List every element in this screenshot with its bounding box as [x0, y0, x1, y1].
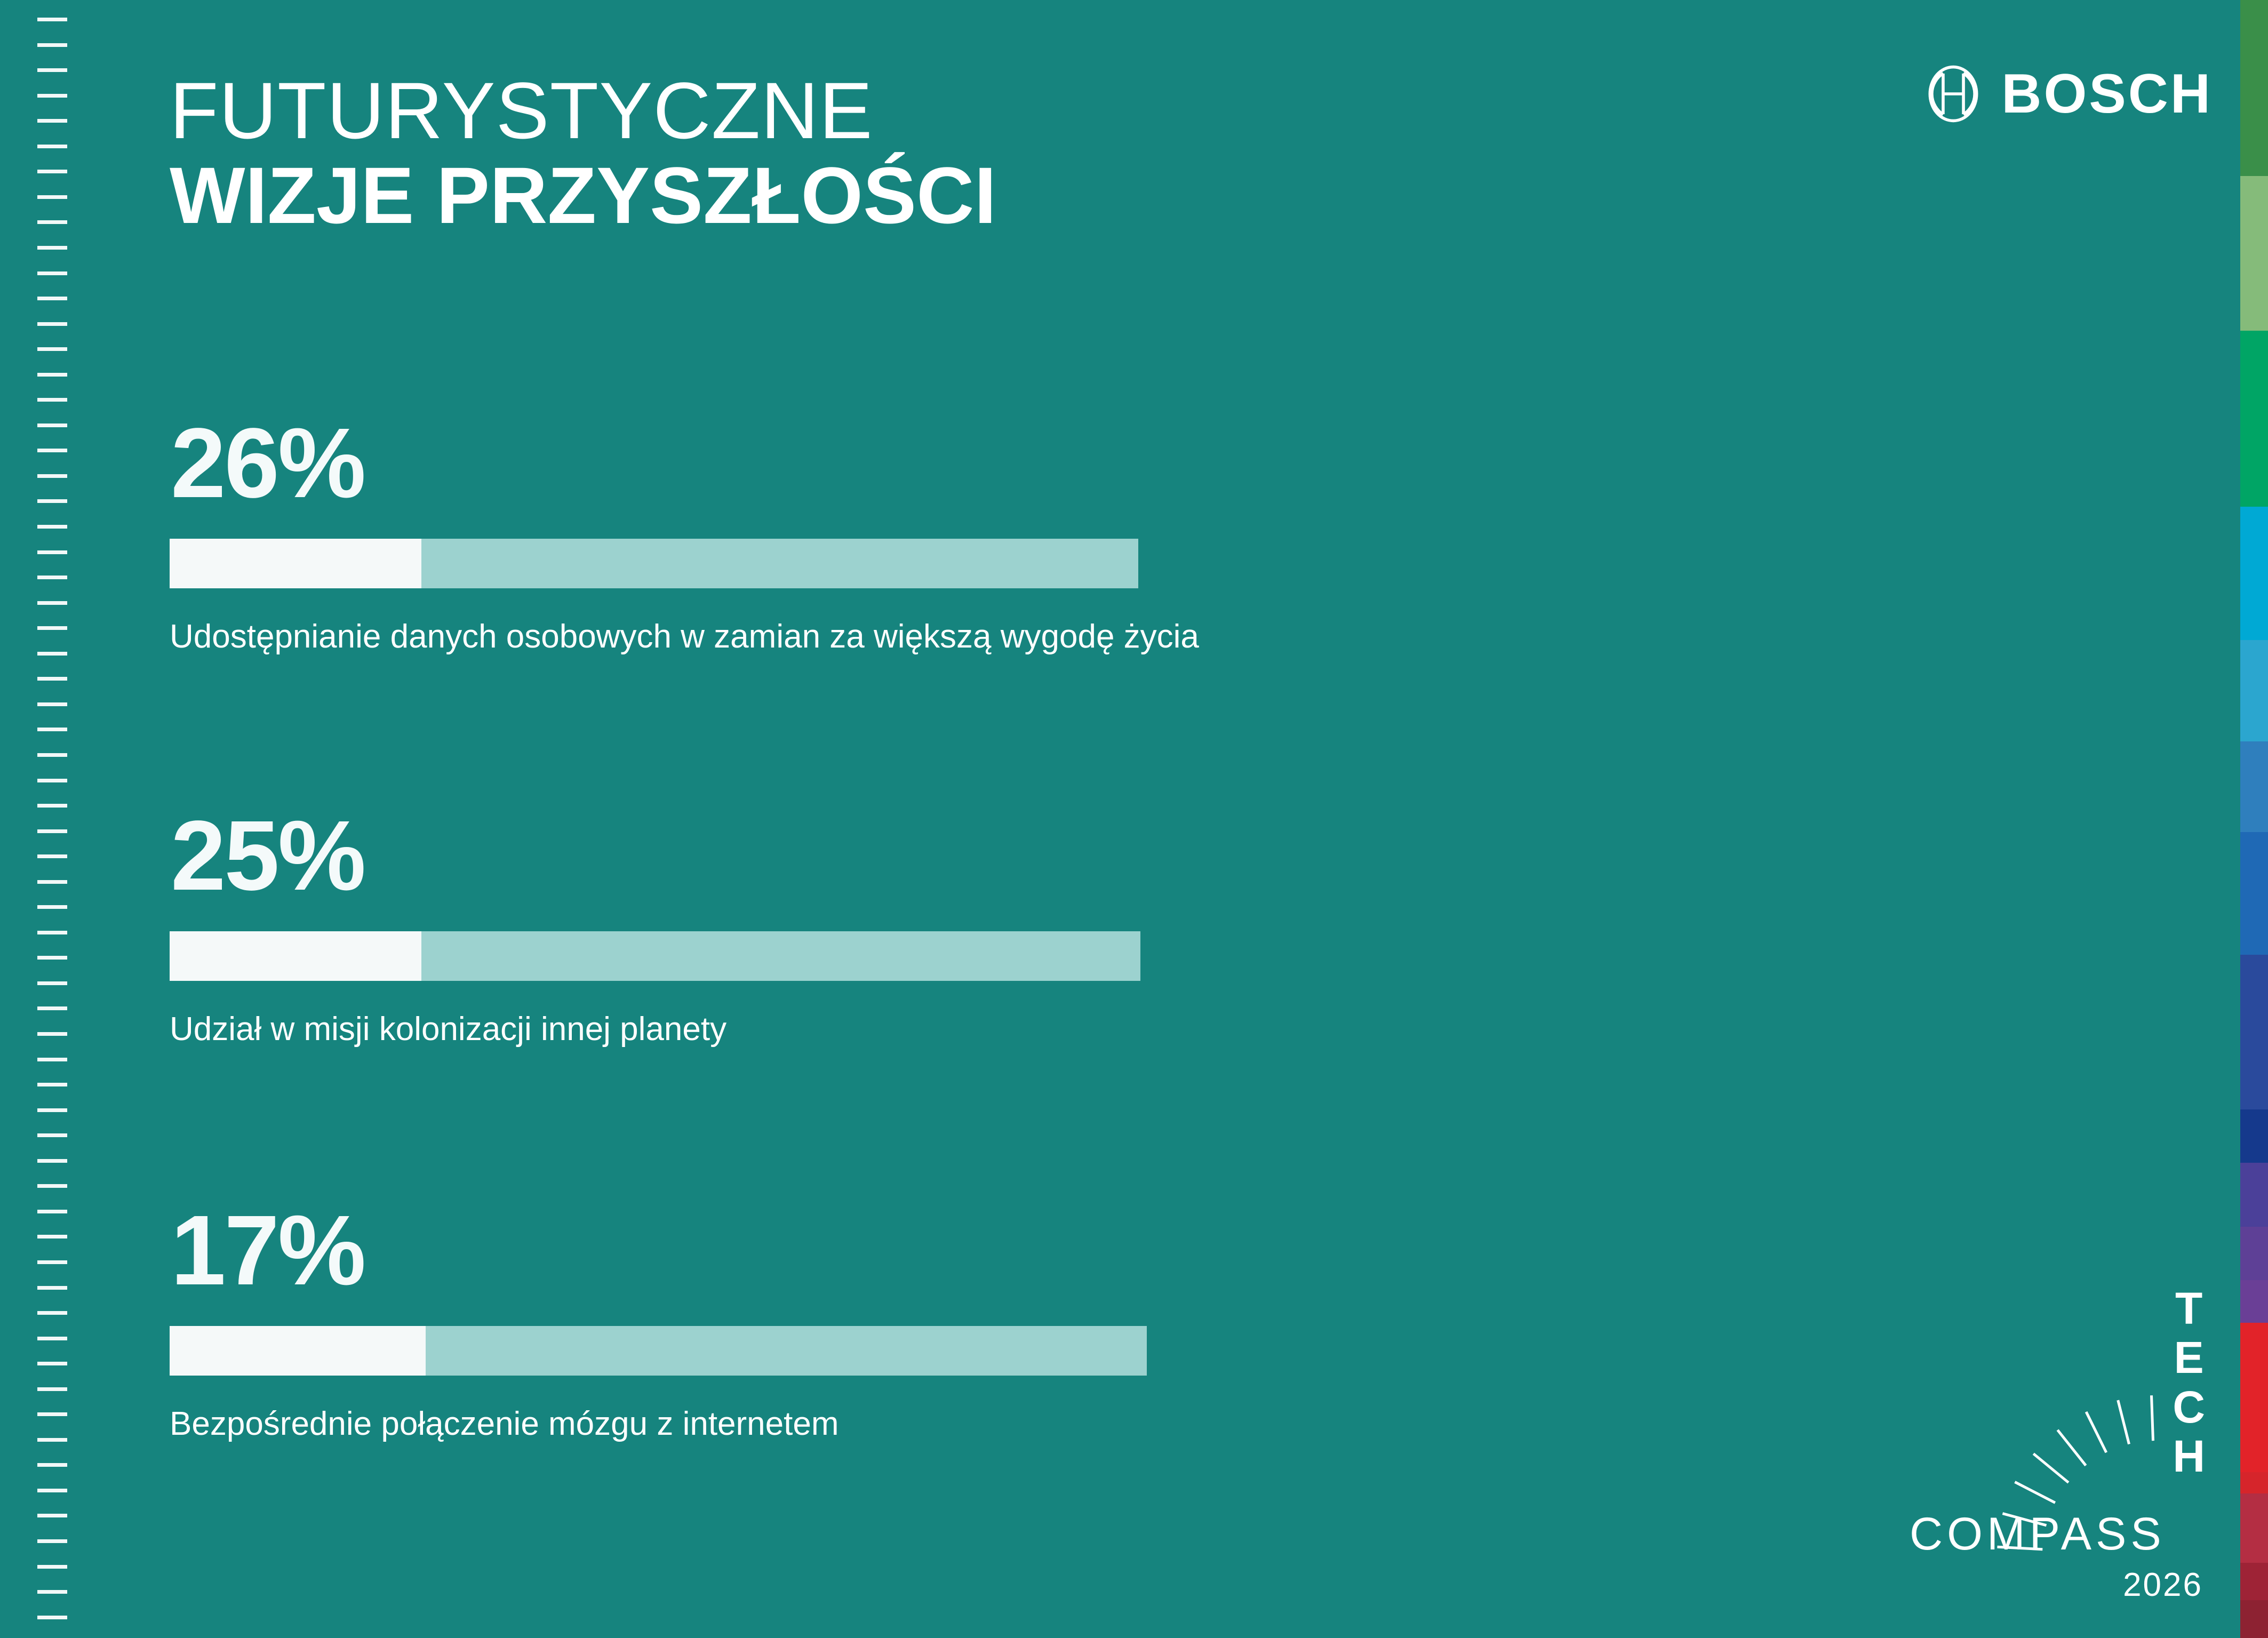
- ruler-ticks-icon: [0, 0, 75, 1638]
- ruler-tick: [37, 1235, 67, 1239]
- tech-compass-tech-word: TECH: [2173, 1284, 2205, 1481]
- page-title-line-2: WIZJE PRZYSZŁOŚCI: [170, 153, 996, 238]
- ruler-tick: [37, 220, 67, 224]
- compass-ray: [2086, 1412, 2106, 1452]
- page-title-line-1: FUTURYSTYCZNE: [170, 68, 996, 153]
- compass-ray: [2033, 1454, 2069, 1483]
- ruler-tick: [37, 398, 67, 402]
- stripe-band: [2240, 0, 2268, 176]
- ruler-tick: [37, 499, 67, 503]
- ruler-tick: [37, 271, 67, 275]
- stripe-band: [2240, 331, 2268, 507]
- ruler-tick: [37, 1260, 67, 1264]
- ruler-tick: [37, 905, 67, 909]
- ruler-tick: [37, 246, 67, 250]
- ruler-tick: [37, 1438, 67, 1442]
- tech-compass-logo: TECH COMPASS 2026: [1906, 1265, 2205, 1606]
- colour-spectrum-stripe: [2240, 0, 2268, 1638]
- bosch-logo: BOSCH: [1923, 64, 2213, 124]
- ruler-tick: [37, 1006, 67, 1010]
- ruler-tick: [37, 43, 67, 47]
- ruler-tick: [37, 195, 67, 199]
- ruler-tick: [37, 322, 67, 326]
- stat-value: 26%: [171, 414, 1199, 513]
- stat-block: 25% Udział w misji kolonizacji innej pla…: [170, 806, 1140, 1049]
- ruler-tick: [37, 1210, 67, 1213]
- stripe-band: [2240, 640, 2268, 741]
- ruler-tick: [37, 601, 67, 605]
- ruler-tick: [37, 1463, 67, 1467]
- stripe-band: [2240, 507, 2268, 640]
- ruler-tick: [37, 170, 67, 173]
- ruler-tick: [37, 474, 67, 478]
- ruler-tick: [37, 1133, 67, 1137]
- ruler-tick: [37, 1108, 67, 1112]
- ruler-tick: [37, 1083, 67, 1086]
- ruler-tick: [37, 119, 67, 123]
- page-title: FUTURYSTYCZNE WIZJE PRZYSZŁOŚCI: [170, 68, 996, 238]
- infographic-poster: BOSCH FUTURYSTYCZNE WIZJE PRZYSZŁOŚCI 26…: [0, 0, 2268, 1638]
- compass-ray: [2118, 1400, 2129, 1444]
- ruler-tick: [37, 1311, 67, 1315]
- stat-bar-fill: [170, 539, 421, 588]
- stripe-band: [2240, 176, 2268, 331]
- stat-label: Udostępnianie danych osobowych w zamian …: [170, 617, 1199, 657]
- stripe-band: [2240, 955, 2268, 1109]
- ruler-tick: [37, 1565, 67, 1569]
- bosch-armature-icon: [1923, 64, 1983, 124]
- tech-compass-letter: C: [2173, 1383, 2205, 1432]
- ruler-tick: [37, 94, 67, 98]
- ruler-tick: [37, 347, 67, 351]
- ruler-tick: [37, 1058, 67, 1061]
- stripe-band: [2240, 832, 2268, 955]
- ruler-tick: [37, 626, 67, 630]
- ruler-tick: [37, 1337, 67, 1340]
- ruler-tick: [37, 1539, 67, 1543]
- ruler-tick: [37, 1184, 67, 1188]
- stat-bar-fill: [170, 1326, 426, 1376]
- stripe-band: [2240, 1280, 2268, 1323]
- tech-compass-year: 2026: [2123, 1569, 2203, 1602]
- stat-bar: [170, 539, 1138, 588]
- ruler-tick: [37, 550, 67, 554]
- ruler-tick: [37, 677, 67, 681]
- stat-block: 26% Udostępnianie danych osobowych w zam…: [170, 414, 1199, 657]
- stat-label: Udział w misji kolonizacji innej planety: [170, 1010, 1140, 1049]
- ruler-tick: [37, 854, 67, 858]
- ruler-tick: [37, 424, 67, 427]
- ruler-tick: [37, 1286, 67, 1290]
- ruler-tick: [37, 804, 67, 808]
- compass-ray: [2058, 1430, 2086, 1466]
- ruler-tick: [37, 702, 67, 706]
- stat-bar: [170, 931, 1140, 981]
- ruler-tick: [37, 779, 67, 782]
- tech-compass-compass-word: COMPASS: [1910, 1511, 2166, 1557]
- ruler-tick: [37, 1032, 67, 1036]
- ruler-tick: [37, 1412, 67, 1416]
- ruler-tick: [37, 956, 67, 960]
- ruler-tick: [37, 931, 67, 934]
- ruler-tick: [37, 880, 67, 884]
- stripe-band: [2240, 1163, 2268, 1227]
- tech-compass-letter: H: [2173, 1432, 2205, 1481]
- ruler-tick: [37, 576, 67, 579]
- ruler-tick: [37, 1489, 67, 1492]
- stat-bar: [170, 1326, 1147, 1376]
- ruler-tick: [37, 728, 67, 731]
- stripe-band: [2240, 741, 2268, 832]
- ruler-tick: [37, 753, 67, 757]
- ruler-tick: [37, 1514, 67, 1517]
- ruler-tick: [37, 1159, 67, 1163]
- stat-value: 25%: [171, 806, 1140, 906]
- tech-compass-letter: T: [2173, 1284, 2205, 1333]
- ruler-tick: [37, 981, 67, 985]
- stat-value: 17%: [171, 1201, 1147, 1300]
- ruler-tick: [37, 1590, 67, 1594]
- ruler-tick: [37, 68, 67, 72]
- ruler-tick: [37, 829, 67, 833]
- ruler-tick: [37, 449, 67, 452]
- stripe-band: [2240, 1323, 2268, 1472]
- ruler-tick: [37, 1387, 67, 1391]
- stripe-band: [2240, 1600, 2268, 1638]
- compass-ray: [2015, 1482, 2055, 1503]
- bosch-wordmark: BOSCH: [2001, 66, 2213, 122]
- ruler-tick: [37, 18, 67, 21]
- ruler-tick: [37, 1616, 67, 1619]
- ruler-tick: [37, 525, 67, 529]
- stat-bar-fill: [170, 931, 421, 981]
- stripe-band: [2240, 1472, 2268, 1493]
- stripe-band: [2240, 1563, 2268, 1600]
- tech-compass-letter: E: [2173, 1333, 2205, 1382]
- stripe-band: [2240, 1227, 2268, 1280]
- stripe-band: [2240, 1109, 2268, 1163]
- ruler-tick: [37, 652, 67, 656]
- ruler-tick: [37, 1362, 67, 1365]
- stat-block: 17% Bezpośrednie połączenie mózgu z inte…: [170, 1201, 1147, 1444]
- ruler-tick: [37, 145, 67, 148]
- ruler-tick: [37, 373, 67, 377]
- compass-ray: [2152, 1395, 2153, 1441]
- stripe-band: [2240, 1493, 2268, 1563]
- ruler-tick: [37, 297, 67, 300]
- stat-label: Bezpośrednie połączenie mózgu z internet…: [170, 1404, 1147, 1444]
